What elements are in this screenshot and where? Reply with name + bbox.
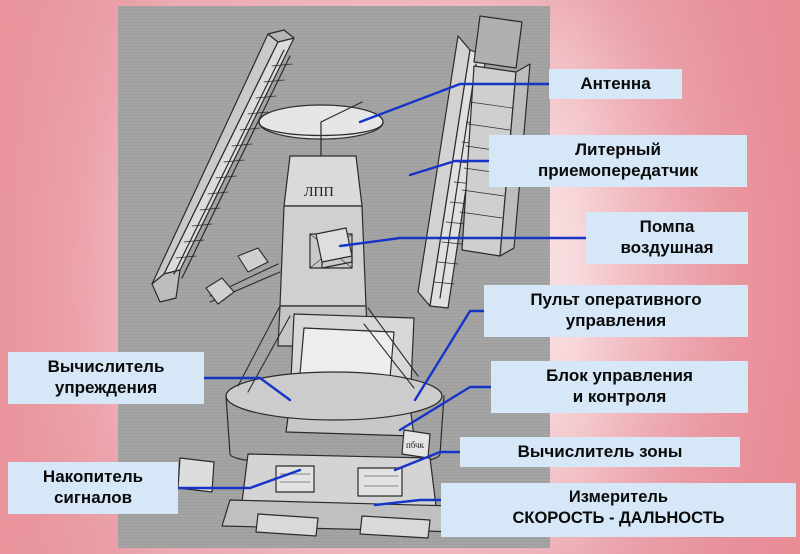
label-signal-accumulator: Накопитель сигналов	[8, 462, 178, 514]
label-operational-control-panel: Пульт оперативного управления	[484, 285, 748, 337]
label-air-pump: Помпа воздушная	[586, 212, 748, 264]
antenna-dish	[259, 102, 383, 156]
label-zone-calculator: Вычислитель зоны	[460, 437, 740, 467]
label-lead-calculator: Вычислитель упреждения	[8, 352, 204, 404]
svg-text:ЛПП: ЛПП	[304, 185, 334, 200]
label-letter-transceiver: Литерный приемопередатчик	[489, 135, 747, 187]
left-panel	[152, 30, 294, 302]
label-control-and-monitoring-unit: Блок управления и контроля	[491, 361, 748, 413]
svg-text:пбчк: пбчк	[406, 440, 425, 450]
label-speed-range-meter: Измеритель СКОРОСТЬ - ДАЛЬНОСТЬ	[441, 483, 796, 537]
label-antenna: Антенна	[549, 69, 682, 99]
diagram-page: ЛПП	[0, 0, 800, 554]
